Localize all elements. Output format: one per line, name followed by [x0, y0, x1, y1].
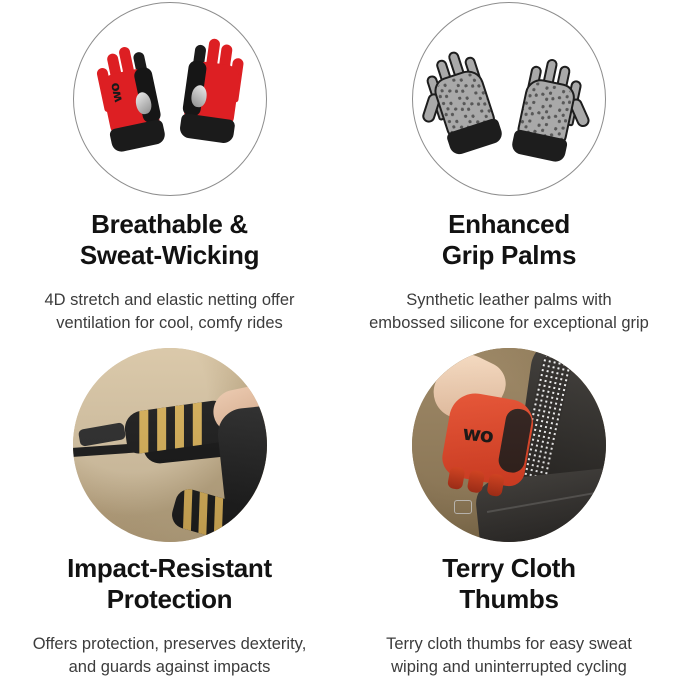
- feature-title-line2: Thumbs: [459, 584, 558, 614]
- feature-card-terry-cloth-thumbs: wo Terry Cloth Thumbs Terry cloth thumbs…: [339, 338, 679, 675]
- red-cycling-gloves-pair-image: wo: [73, 2, 267, 196]
- glove-brand-logo: wo: [107, 82, 126, 104]
- feature-title-line2: Sweat-Wicking: [80, 240, 259, 270]
- feature-card-impact-resistant-protection: Impact-Resistant Protection Offers prote…: [0, 338, 339, 675]
- feature-description-line2: and guards against impacts: [69, 658, 271, 676]
- feature-title-line1: Terry Cloth: [442, 553, 575, 583]
- feature-title-line1: Impact-Resistant: [67, 553, 272, 583]
- feature-title: Breathable & Sweat-Wicking: [74, 209, 265, 271]
- feature-title-line1: Breathable &: [91, 209, 248, 239]
- photo-vignette: [412, 348, 606, 542]
- feature-card-breathable-sweat-wicking: wo Breathable & Sweat-Wicking 4: [0, 0, 339, 338]
- glove-pair-illustration: wo: [74, 3, 266, 195]
- feature-description-line2: embossed silicone for exceptional grip: [369, 314, 649, 332]
- feature-grid: wo Breathable & Sweat-Wicking 4: [0, 0, 679, 675]
- feature-title-line2: Protection: [107, 584, 233, 614]
- feature-card-enhanced-grip-palms: Enhanced Grip Palms Synthetic leather pa…: [339, 0, 679, 338]
- glove-left: [416, 36, 508, 158]
- feature-title-line2: Grip Palms: [442, 240, 576, 270]
- feature-description-line2: ventilation for cool, comfy rides: [56, 314, 283, 332]
- feature-title-line1: Enhanced: [448, 209, 570, 239]
- feature-description: 4D stretch and elastic netting offer ven…: [42, 289, 296, 335]
- feature-description-line1: 4D stretch and elastic netting offer: [44, 291, 294, 309]
- photo-vignette: [73, 348, 267, 542]
- feature-title: Enhanced Grip Palms: [436, 209, 582, 271]
- feature-description: Offers protection, preserves dexterity, …: [31, 633, 309, 679]
- feature-description: Terry cloth thumbs for easy sweat wiping…: [384, 633, 634, 679]
- grey-silicone-palm-gloves-pair-image: [412, 2, 606, 196]
- feature-description-line1: Terry cloth thumbs for easy sweat: [386, 635, 632, 653]
- glove-left: wo: [87, 36, 170, 155]
- photo-scene: wo: [412, 348, 606, 542]
- rider-hand-on-handlebar-action-photo: [73, 348, 267, 542]
- glove-pair-illustration: [413, 3, 605, 195]
- photo-scene: [73, 348, 267, 542]
- glove-right: [174, 29, 250, 145]
- feature-title: Impact-Resistant Protection: [61, 553, 278, 615]
- red-glove-wiping-on-shorts-action-photo: wo: [412, 348, 606, 542]
- feature-description-line2: wiping and uninterrupted cycling: [391, 658, 627, 676]
- feature-description-line1: Offers protection, preserves dexterity,: [33, 635, 307, 653]
- feature-description: Synthetic leather palms with embossed si…: [367, 289, 651, 335]
- glove-right: [506, 46, 589, 165]
- feature-title: Terry Cloth Thumbs: [436, 553, 581, 615]
- feature-description-line1: Synthetic leather palms with: [406, 291, 611, 309]
